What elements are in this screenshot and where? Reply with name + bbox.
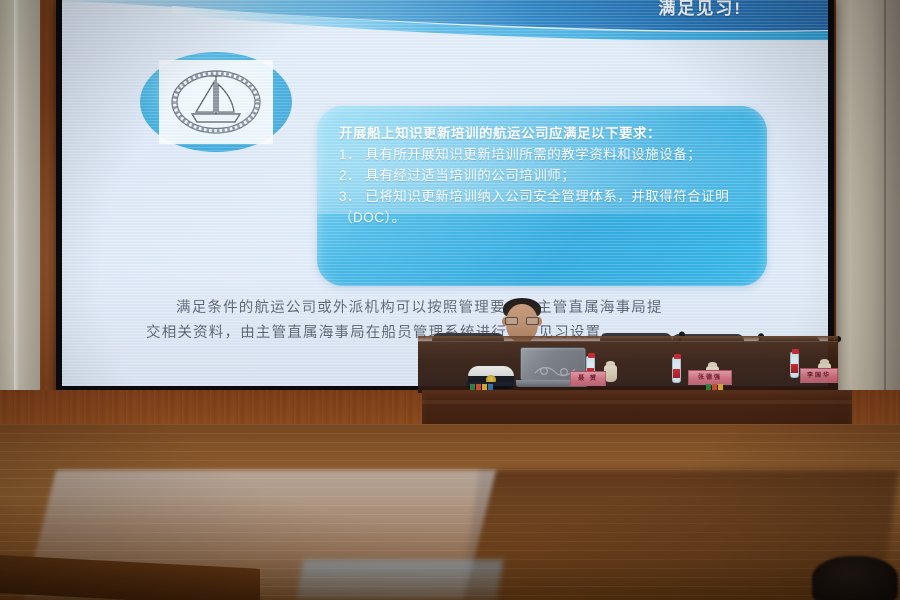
content-heading-rest: 应满足以下要求： — [549, 126, 661, 141]
content-item-1: 1． 具有所开展知识更新培训所需的教学资料和设施设备； — [339, 144, 747, 165]
name-card: 聂 赟 — [570, 371, 606, 386]
audience-head-silhouette — [812, 556, 898, 600]
name-card: 张德强 — [688, 370, 732, 385]
projection-screen: 满足见习! — [62, 0, 828, 386]
speaker-glasses — [505, 317, 539, 325]
content-item-3: 3． 已将知识更新培训纳入公司安全管理体系，并取得符合证明（DOC）。 — [339, 186, 747, 228]
name-card: 李国华 — [800, 368, 838, 383]
water-bottle — [790, 352, 799, 378]
slide-paragraph-line-1: 满足条件的航运公司或外派机构可以按照管理要求向主管直属海事局提 — [176, 300, 663, 316]
content-heading: 开展船上知识更新培训的航运公司应满足以下要求： — [339, 123, 747, 144]
logo-card — [159, 60, 273, 144]
conference-room-photo: 满足见习! — [0, 0, 900, 600]
content-heading-highlight: 开展船上知识更新培训的航运公司 — [339, 126, 549, 141]
right-wall-panel — [836, 0, 900, 430]
wall-seam — [884, 0, 886, 430]
water-bottle — [672, 357, 681, 383]
floor-reflection-highlight — [296, 560, 503, 600]
sailboat-in-rope-oval-icon — [159, 60, 273, 144]
slide-banner: 满足见习! — [62, 0, 828, 40]
slide-content-box: 开展船上知识更新培训的航运公司应满足以下要求： 1． 具有所开展知识更新培训所需… — [317, 106, 767, 286]
slide-banner-title: 满足见习! — [658, 0, 742, 19]
content-item-2: 2． 具有经过适当培训的公司培训师； — [339, 165, 747, 186]
slide-logo — [140, 52, 292, 152]
